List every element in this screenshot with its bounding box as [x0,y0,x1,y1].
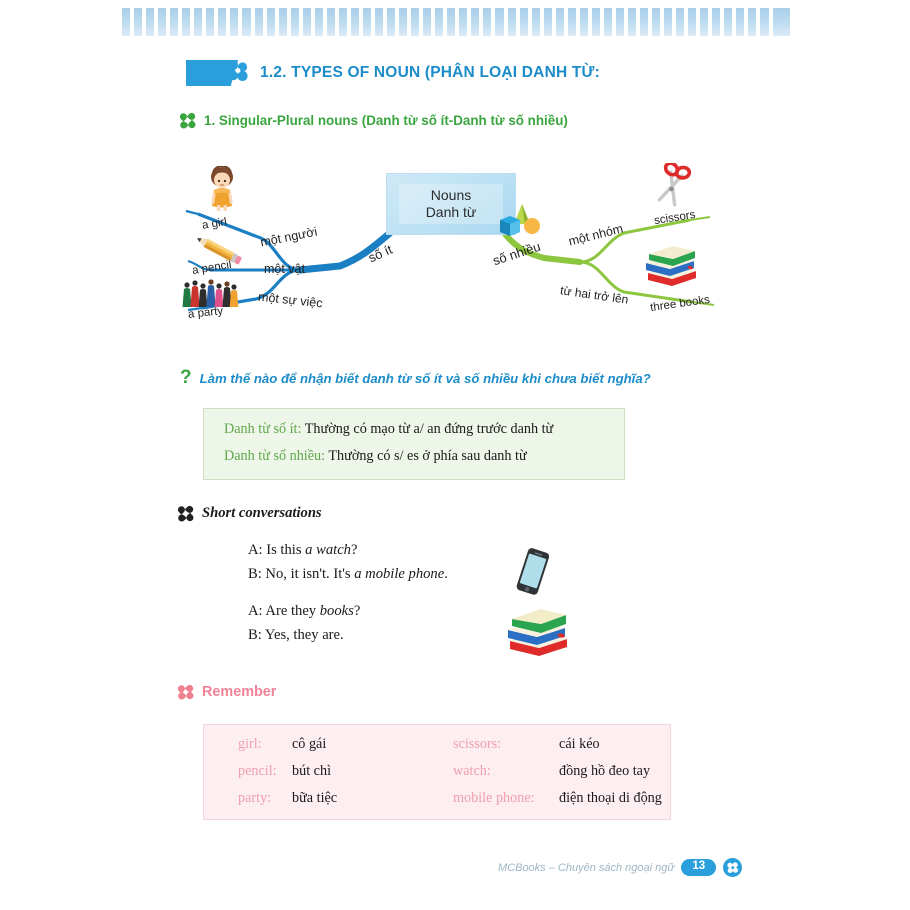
vocabulary-column-left: girl: cô gái pencil: bút chì party: bữa … [204,736,449,817]
decor-bar [688,8,696,36]
scissors-illustration [650,163,694,211]
vocabulary-row: watch: đồng hồ đeo tay [453,763,670,780]
decor-bar [255,8,263,36]
dialog-speaker-text: A: Are they [248,603,320,619]
conversations-heading: Short conversations [178,505,322,522]
mindmap-center-node: Nouns Danh từ [386,173,516,235]
decor-bar [387,8,395,36]
decor-bar-wide [773,8,791,36]
vocabulary-column-right: scissors: cái kéo watch: đồng hồ đeo tay… [449,736,670,817]
decor-bar [242,8,250,36]
vocabulary-term: pencil: [238,763,286,780]
decor-bar [640,8,648,36]
question-text: Làm thế nào để nhận biết danh từ số ít v… [200,371,651,386]
decor-bar [568,8,576,36]
textbook-page: 1.2. TYPES OF NOUN (PHÂN LOẠI DANH TỪ: 1… [0,0,910,910]
party-people-illustration [182,278,240,310]
answer-row-text: Thường có s/ es ở phía sau danh từ [328,448,526,464]
conversations-heading-label: Short conversations [202,505,322,522]
dialog-line: B: Yes, they are. [248,624,360,648]
dialog-tail: ? [351,542,357,558]
decor-bar [158,8,166,36]
decor-bar [134,8,142,36]
decor-bar [676,8,684,36]
decor-bar [375,8,383,36]
answer-row: Danh từ số ít: Thường có mạo từ a/ an đứ… [224,420,604,439]
clover-icon [178,685,193,700]
clover-icon [178,506,193,521]
question-line: ? Làm thế nào để nhận biết danh từ số ít… [180,368,651,387]
decor-bar [580,8,588,36]
vocabulary-row: scissors: cái kéo [453,736,670,753]
mindmap-center-line1: Nouns [399,187,503,204]
decor-bar [736,8,744,36]
decor-bar [339,8,347,36]
decor-bar [652,8,660,36]
section-title-row: 1.2. TYPES OF NOUN (PHÂN LOẠI DANH TỪ: [186,58,600,88]
decor-bar [435,8,443,36]
decor-bar [471,8,479,36]
remember-heading-label: Remember [202,684,276,700]
vocabulary-row: party: bữa tiệc [238,790,449,807]
vocabulary-meaning: điện thoại di động [559,790,662,807]
vocabulary-meaning: đồng hồ đeo tay [559,763,650,780]
decor-bar [182,8,190,36]
vocabulary-meaning: bữa tiệc [292,790,337,807]
decor-bar [508,8,516,36]
decor-bar [724,8,732,36]
decor-bar [459,8,467,36]
vocabulary-row: girl: cô gái [238,736,449,753]
pencil-illustration [192,232,244,268]
subsection-heading-label: 1. Singular-Plural nouns (Danh từ số ít-… [204,113,568,128]
decor-bar [760,8,768,36]
mobile-phone-illustration [508,545,554,608]
decor-bar [122,8,130,36]
vocabulary-term: watch: [453,763,559,780]
dialog-tail: . [444,566,448,582]
dialog-speaker-text: B: Yes, they are. [248,627,344,643]
dialog-line: B: No, it isn't. It's a mobile phone. [248,563,448,587]
decor-bar [303,8,311,36]
dialog-speaker-text: B: No, it isn't. It's [248,566,354,582]
vocabulary-box: girl: cô gái pencil: bút chì party: bữa … [203,724,671,820]
decor-bar [592,8,600,36]
decor-bar [351,8,359,36]
dialog-block: A: Is this a watch? B: No, it isn't. It'… [248,539,448,586]
answer-row: Danh từ số nhiều: Thường có s/ es ở phía… [224,447,604,466]
clover-icon [180,113,195,128]
vocabulary-meaning: bút chì [292,763,331,780]
decor-bar [748,8,756,36]
flower-icon [222,56,252,86]
dialog-line: A: Is this a watch? [248,539,448,563]
decor-bar [447,8,455,36]
decor-bar [194,8,202,36]
publisher-text: MCBooks – Chuyên sách ngoại ngữ [498,862,674,874]
subsection-heading: 1. Singular-Plural nouns (Danh từ số ít-… [180,113,568,128]
answer-row-label: Danh từ số ít: [224,421,301,437]
vocabulary-row: mobile phone: điện thoại di động [453,790,670,807]
page-title: 1.2. TYPES OF NOUN (PHÂN LOẠI DANH TỪ: [260,64,600,82]
decor-bar [399,8,407,36]
vocabulary-term: girl: [238,736,286,753]
mindmap-center-line2: Danh từ [399,204,503,221]
decor-bar [628,8,636,36]
dialog-line: A: Are they books? [248,600,360,624]
decor-bar [146,8,154,36]
decor-bar [423,8,431,36]
question-mark-icon: ? [180,368,192,387]
decor-bar [604,8,612,36]
decor-bar [495,8,503,36]
dialog-emphasis: a watch [305,542,351,558]
vocabulary-term: party: [238,790,286,807]
mindmap-label-mot-vat: một vật [264,262,305,276]
decor-bar [315,8,323,36]
decor-bar [218,8,226,36]
books-stack-illustration [503,602,573,665]
top-decorative-bar-band [122,8,790,36]
decor-bar [327,8,335,36]
decor-bar [230,8,238,36]
dialog-emphasis: books [320,603,354,619]
decor-bar [170,8,178,36]
remember-heading: Remember [178,684,276,700]
page-footer: MCBooks – Chuyên sách ngoại ngữ 13 [498,858,742,877]
vocabulary-meaning: cô gái [292,736,326,753]
geometric-shapes-illustration [498,202,542,236]
decor-bar [616,8,624,36]
girl-illustration [202,166,242,212]
decor-bar [411,8,419,36]
decor-bar [532,8,540,36]
decor-bar [520,8,528,36]
answer-row-text: Thường có mạo từ a/ an đứng trước danh t… [305,421,553,437]
decor-bar [483,8,491,36]
decor-bar [664,8,672,36]
clover-icon [727,862,738,873]
dialog-block: A: Are they books? B: Yes, they are. [248,600,360,647]
decor-bar [712,8,720,36]
decor-bar [291,8,299,36]
vocabulary-term: mobile phone: [453,790,559,807]
footer-clover-badge-icon [723,858,742,877]
page-number-badge: 13 [681,859,716,876]
decor-bar [206,8,214,36]
dialog-tail: ? [354,603,360,619]
decor-bar [544,8,552,36]
mindmap-diagram: Nouns Danh từ số ít một người một vật mộ… [180,158,740,343]
vocabulary-term: scissors: [453,736,559,753]
dialog-emphasis: a mobile phone [354,566,444,582]
decor-bar [279,8,287,36]
decor-bar [700,8,708,36]
dialog-speaker-text: A: Is this [248,542,305,558]
books-stack-illustration [642,240,700,290]
decor-bar [556,8,564,36]
vocabulary-meaning: cái kéo [559,736,600,753]
vocabulary-row: pencil: bút chì [238,763,449,780]
answer-box: Danh từ số ít: Thường có mạo từ a/ an đứ… [203,408,625,480]
answer-row-label: Danh từ số nhiều: [224,448,325,464]
decor-bar [267,8,275,36]
decor-bar [363,8,371,36]
